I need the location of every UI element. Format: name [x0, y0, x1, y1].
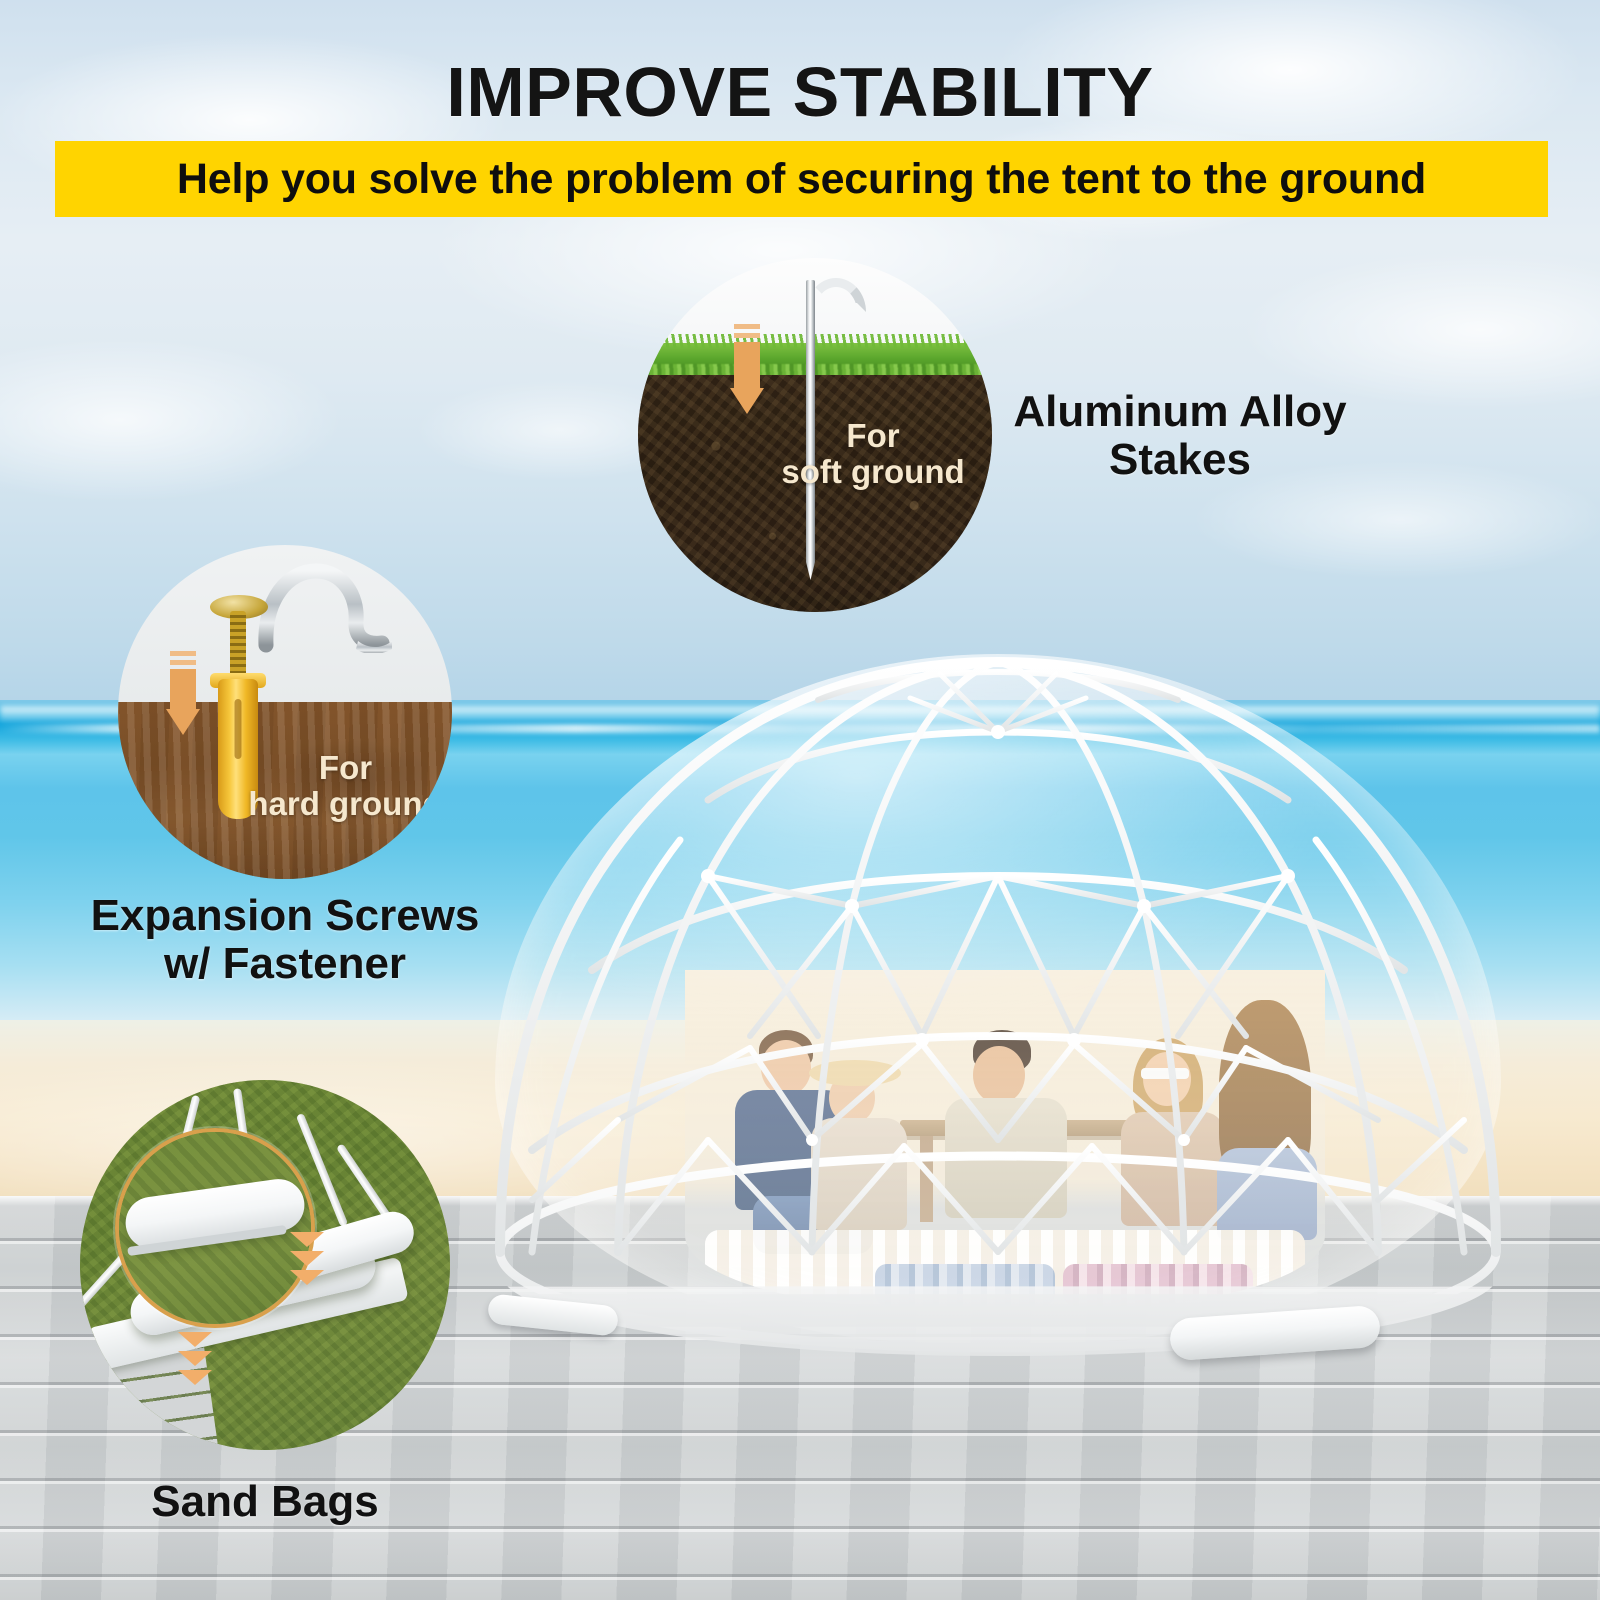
downward-chevron-icon [178, 1332, 212, 1389]
grass-layer [638, 343, 992, 378]
downward-chevron-icon [290, 1232, 324, 1289]
insert-direction-arrow-icon [730, 324, 764, 414]
dome-tent-product [470, 640, 1530, 1400]
screw-thread-icon [230, 611, 246, 681]
label-sand-bags: Sand Bags [80, 1478, 450, 1526]
feature-circle-sand-bags [80, 1080, 450, 1450]
hard-ground-caption-line2: hard ground [238, 786, 452, 822]
feature-circle-aluminum-stakes: For soft ground [638, 258, 992, 612]
geodesic-frame [470, 640, 1530, 1400]
soil-layer [638, 375, 992, 612]
feature-circle-expansion-screws: For hard ground [118, 545, 452, 879]
hard-ground-caption-line1: For [238, 750, 452, 786]
label-expansion-line1: Expansion Screws [35, 892, 535, 940]
soft-ground-caption-line1: For [768, 418, 978, 454]
hard-ground-caption: For hard ground [238, 750, 452, 821]
subtitle-text: Help you solve the problem of securing t… [177, 155, 1426, 204]
fastener-hook-icon [258, 563, 398, 653]
label-expansion-line2: w/ Fastener [35, 940, 535, 988]
label-aluminum-alloy-stakes: Aluminum Alloy Stakes [970, 388, 1390, 485]
soft-ground-caption: For soft ground [768, 418, 978, 489]
insert-direction-arrow-icon [166, 651, 200, 735]
label-sand-bags-line1: Sand Bags [80, 1478, 450, 1526]
subtitle-banner: Help you solve the problem of securing t… [55, 141, 1548, 217]
page-title: IMPROVE STABILITY [0, 52, 1600, 132]
label-aluminum-line1: Aluminum Alloy [970, 388, 1390, 436]
soft-ground-caption-line2: soft ground [768, 454, 978, 490]
label-aluminum-line2: Stakes [970, 436, 1390, 484]
magnifier-inset [115, 1128, 315, 1328]
label-expansion-screws: Expansion Screws w/ Fastener [35, 892, 535, 989]
